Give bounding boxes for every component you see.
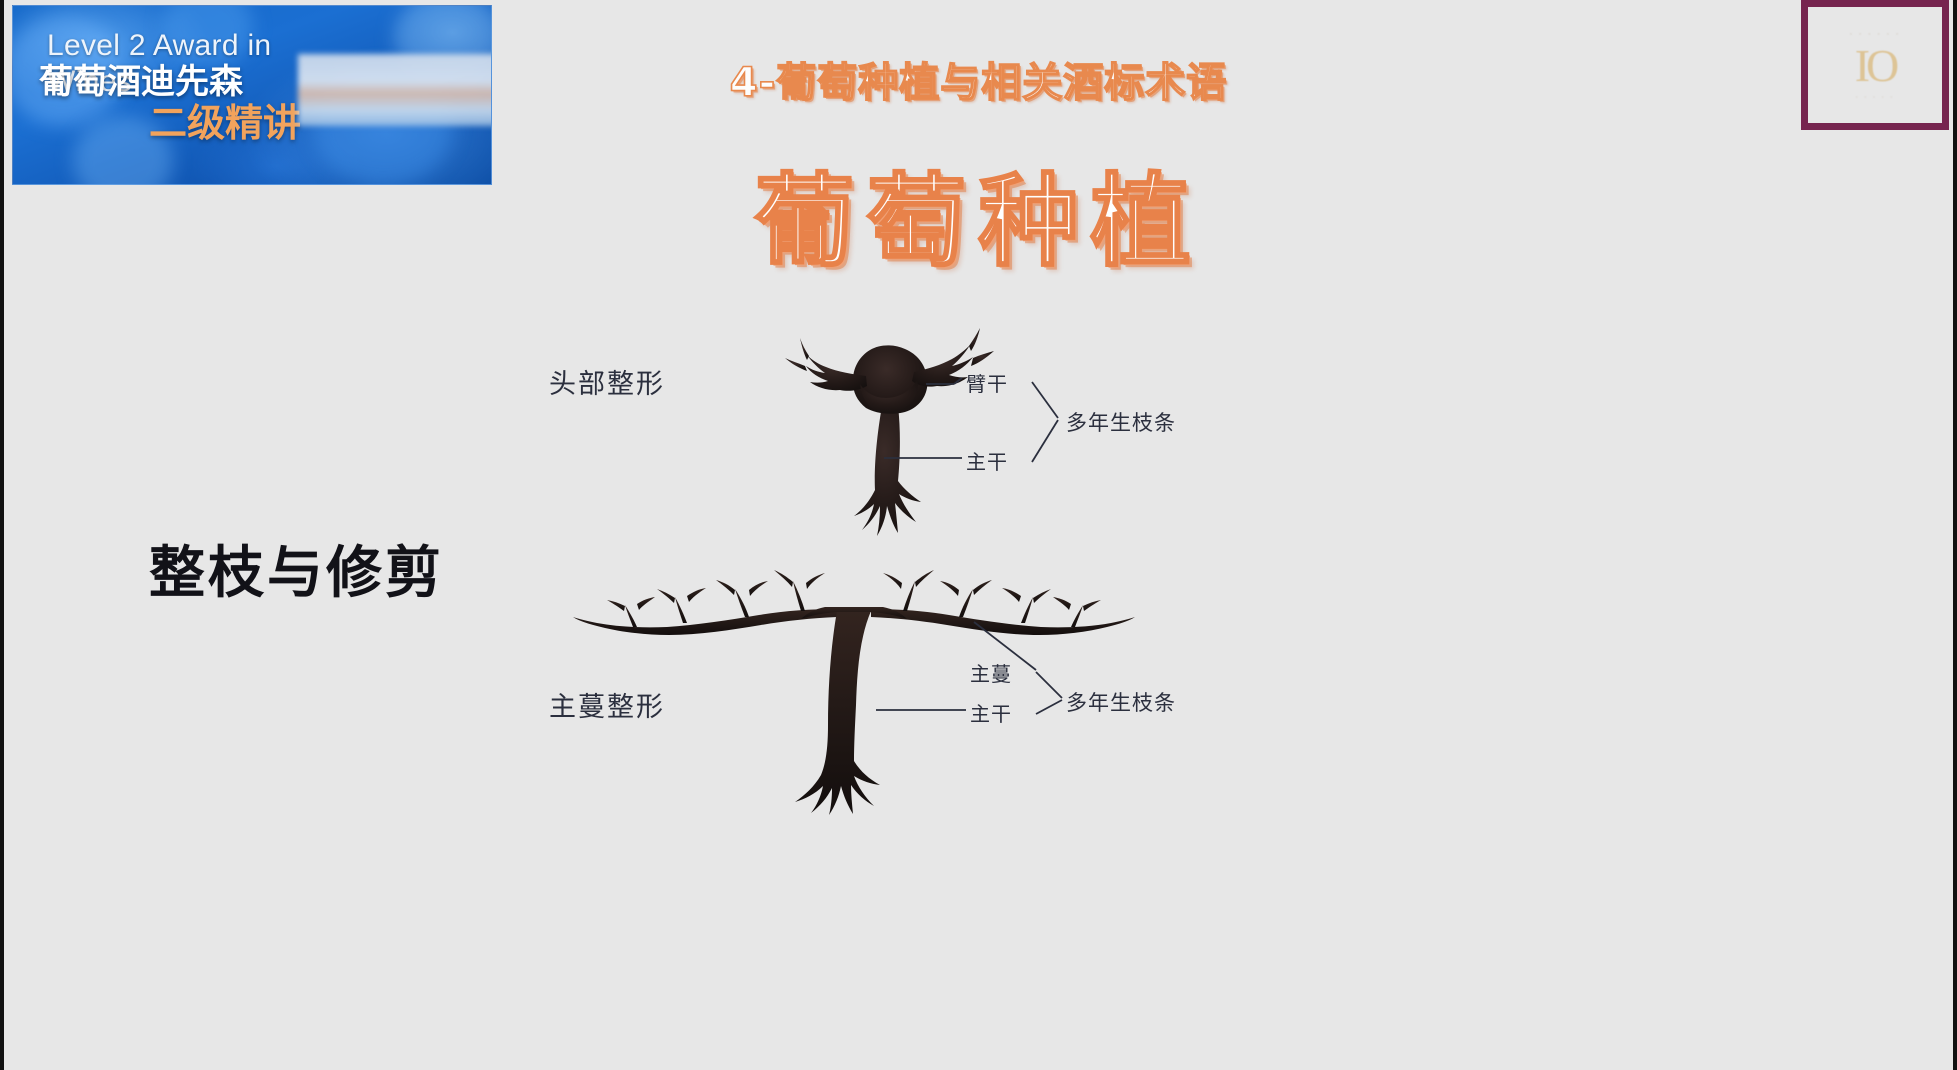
slide-title: 4-葡萄种植与相关酒标术语 — [4, 50, 1953, 108]
figure-caption-head-training: 头部整形 — [549, 362, 665, 401]
annotation-group-label-lower: 多年生枝条 — [1066, 687, 1176, 717]
annotation-label-lower-cordon: 主蔓 — [970, 658, 1012, 687]
annotation-group-label-upper: 多年生枝条 — [1066, 407, 1176, 437]
logo-top-text: · · · · · · — [1849, 29, 1900, 39]
head-trained-vine-image — [774, 320, 1044, 550]
annotation-label-lower-trunk: 主干 — [970, 698, 1012, 727]
annotation-label-upper-trunk: 主干 — [966, 446, 1008, 475]
slide-screen: Level 2 Award in Wines 葡萄酒迪先森 二级精讲 · · ·… — [0, 0, 1957, 1070]
vine-training-diagram: 头部整形 — [644, 380, 1544, 1070]
slide-heading: 葡萄种植 — [4, 140, 1953, 285]
annotation-label-upper-arm: 臂干 — [966, 368, 1008, 397]
cordon-trained-vine-image — [569, 565, 1139, 815]
section-label: 整枝与修剪 — [149, 528, 444, 609]
